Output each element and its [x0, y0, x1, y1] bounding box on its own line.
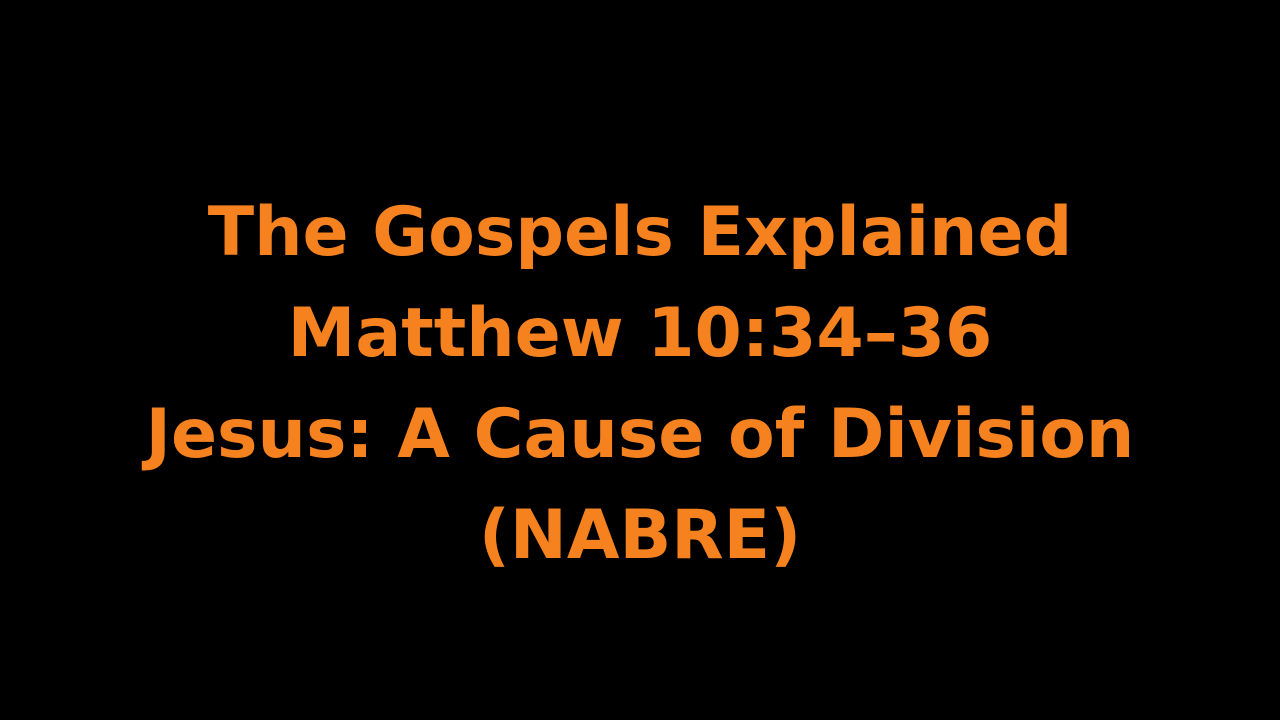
scripture-reference: Matthew 10:34–36 [288, 283, 993, 384]
subject-title: Jesus: A Cause of Division [146, 384, 1135, 485]
title-slide: The Gospels Explained Matthew 10:34–36 J… [0, 0, 1280, 720]
bible-version-label: (NABRE) [479, 485, 801, 586]
title-text-block: The Gospels Explained Matthew 10:34–36 J… [0, 182, 1280, 586]
series-title: The Gospels Explained [208, 182, 1073, 283]
